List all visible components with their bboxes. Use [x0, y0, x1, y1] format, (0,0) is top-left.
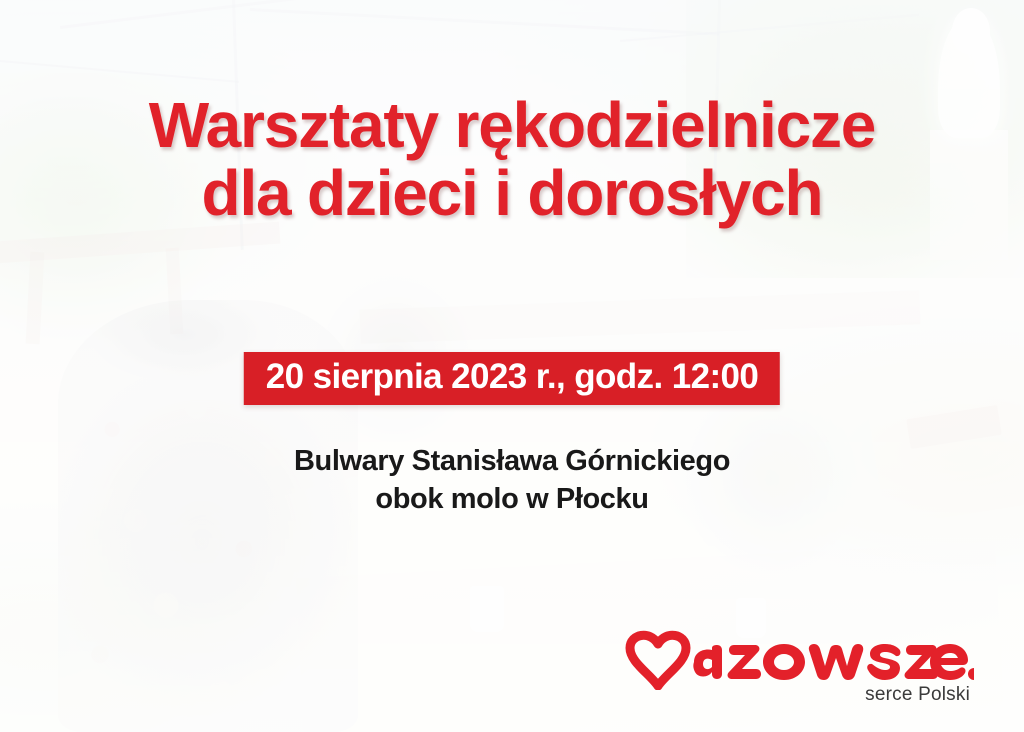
venue-line-2: obok molo w Płocku — [0, 480, 1024, 518]
title-line-1: Warsztaty rękodzielnicze — [0, 92, 1024, 160]
logo-tagline: serce Polski — [865, 684, 970, 706]
venue-line-1: Bulwary Stanisława Górnickiego — [0, 442, 1024, 480]
poster-content: Warsztaty rękodzielnicze dla dzieci i do… — [0, 0, 1024, 732]
heart-icon — [630, 635, 686, 686]
title-line-2: dla dzieci i dorosłych — [0, 160, 1024, 228]
mazowsze-wordmark — [622, 628, 974, 690]
event-poster: Warsztaty rękodzielnicze dla dzieci i do… — [0, 0, 1024, 732]
date-banner-text: 20 sierpnia 2023 r., godz. 12:00 — [266, 359, 758, 396]
poster-title: Warsztaty rękodzielnicze dla dzieci i do… — [0, 92, 1024, 228]
mazowsze-logo: serce Polski — [622, 628, 974, 714]
date-banner: 20 sierpnia 2023 r., godz. 12:00 — [244, 352, 780, 405]
venue-block: Bulwary Stanisława Górnickiego obok molo… — [0, 442, 1024, 519]
